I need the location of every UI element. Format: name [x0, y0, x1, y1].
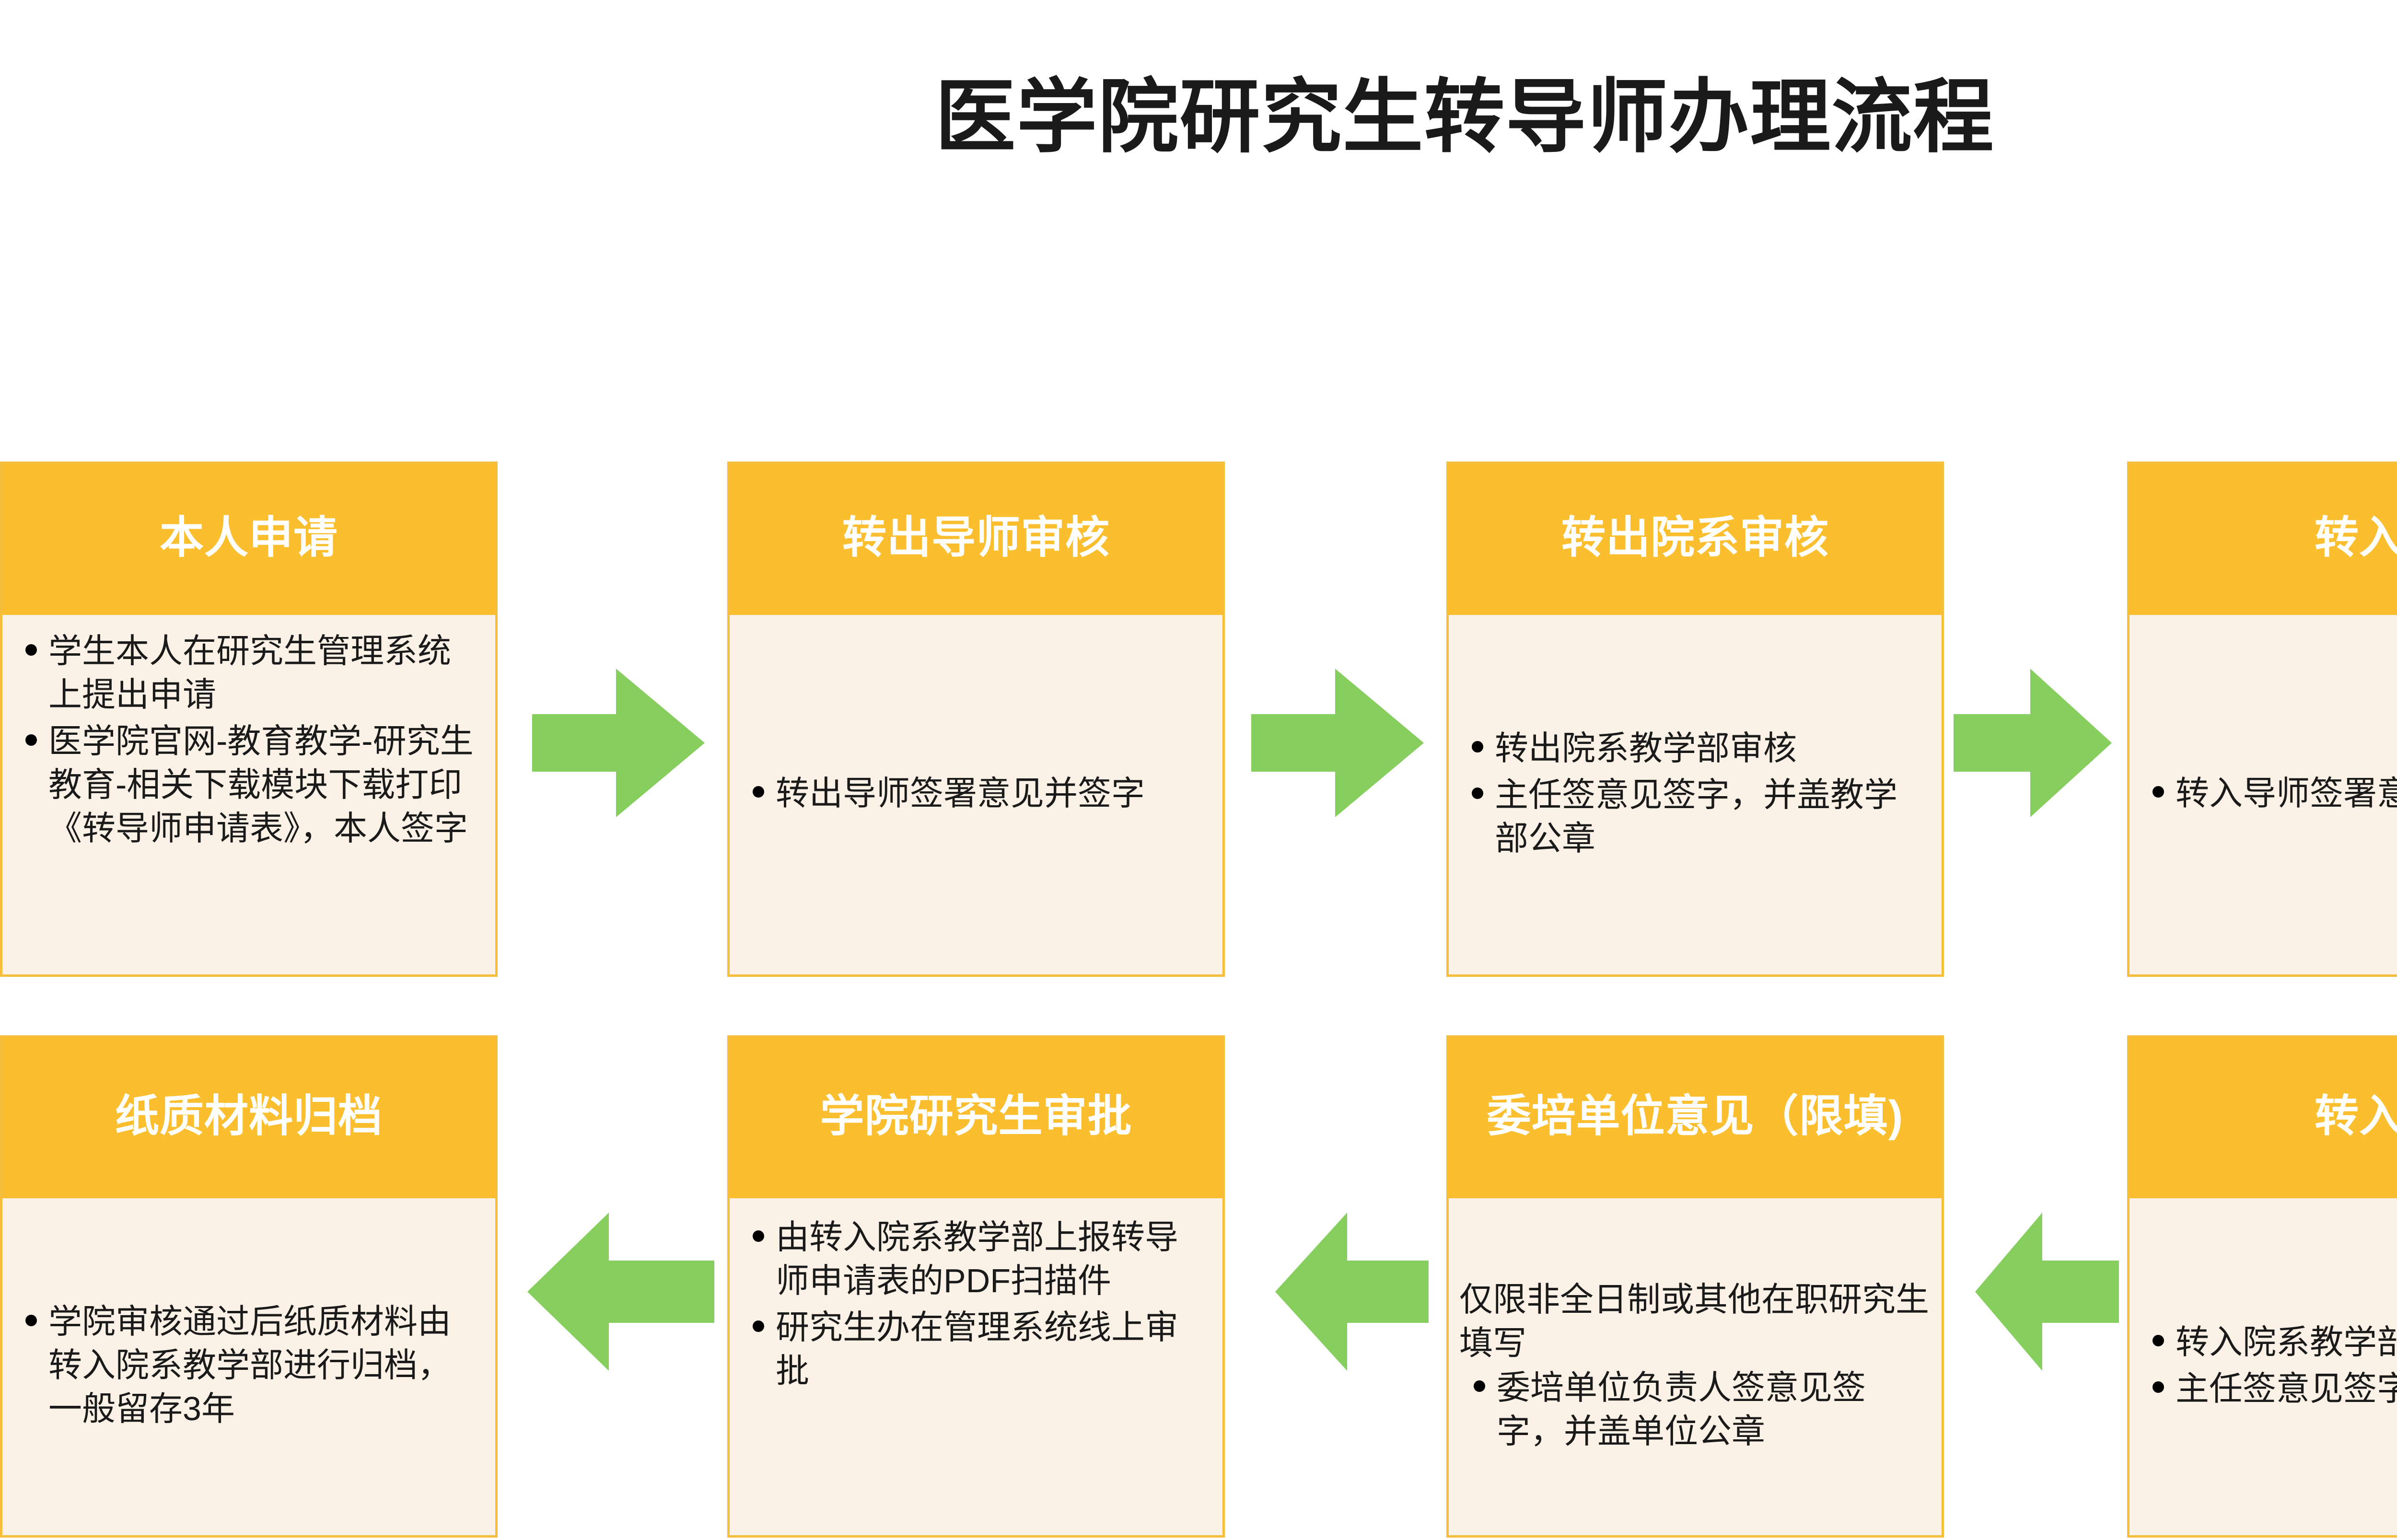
step-body: 转入导师签署意见并签字	[2129, 615, 2397, 974]
step-bullet-list: 转出导师签署意见并签字	[746, 772, 1206, 818]
step-body: 仅限非全日制或其他在职研究生填写 委培单位负责人签意见签字，并盖单位公章	[1449, 1198, 1942, 1535]
arrow-left-icon	[1275, 1213, 1429, 1371]
step-body: 学生本人在研究生管理系统上提出申请 医学院官网-教育教学-研究生教育-相关下载模…	[2, 615, 495, 974]
step-header: 转入院系审核	[2127, 1035, 2397, 1198]
step-bullet-list: 转出院系教学部审核 主任签意见签字，并盖教学部公章	[1465, 727, 1925, 863]
step-body: 转入院系教学部审核 主任签意见签字，并盖教学部公章	[2129, 1198, 2397, 1535]
page-title: 医学院研究生转导师办理流程	[0, 77, 2397, 157]
list-item: 转入导师签署意见并签字	[2146, 772, 2397, 815]
list-item: 主任签意见签字，并盖教学部公章	[1465, 773, 1925, 860]
list-item: 转出院系教学部审核	[1465, 727, 1925, 770]
step-box-zhuan-ru-dao-shi-shen-he: 转入导师审核 转入导师签署意见并签字	[2127, 462, 2397, 977]
list-item: 主任签意见签字，并盖教学部公章	[2146, 1367, 2397, 1411]
list-item: 学院审核通过后纸质材料由转入院系教学部进行归档，一般留存3年	[19, 1300, 479, 1431]
step-box-wei-pei-dan-wei-yi-jian: 委培单位意见（限填) 仅限非全日制或其他在职研究生填写 委培单位负责人签意见签字…	[1446, 1035, 1944, 1538]
list-item: 转出导师签署意见并签字	[746, 772, 1206, 815]
list-item: 学生本人在研究生管理系统上提出申请	[19, 629, 479, 717]
step-bullet-list: 由转入院系教学部上报转导师申请表的PDF扫描件 研究生办在管理系统线上审批	[746, 1216, 1206, 1396]
step-box-zhi-zhi-cai-liao-gui-dang: 纸质材料归档 学院审核通过后纸质材料由转入院系教学部进行归档，一般留存3年	[0, 1035, 498, 1538]
step-header: 转出院系审核	[1446, 462, 1944, 615]
step-bullet-list: 学院审核通过后纸质材料由转入院系教学部进行归档，一般留存3年	[19, 1300, 479, 1434]
list-item: 医学院官网-教育教学-研究生教育-相关下载模块下载打印《转导师申请表》，本人签字	[19, 719, 479, 850]
list-item: 委培单位负责人签意见签字，并盖单位公章	[1459, 1366, 1931, 1453]
step-header: 转出导师审核	[727, 462, 1225, 615]
step-box-xue-yuan-yan-jiu-sheng-shen-pi: 学院研究生审批 由转入院系教学部上报转导师申请表的PDF扫描件 研究生办在管理系…	[727, 1035, 1225, 1538]
step-body: 由转入院系教学部上报转导师申请表的PDF扫描件 研究生办在管理系统线上审批	[730, 1198, 1222, 1535]
step-box-zhuan-ru-yuan-xi-shen-he: 转入院系审核 转入院系教学部审核 主任签意见签字，并盖教学部公章	[2127, 1035, 2397, 1538]
arrow-right-icon	[1954, 669, 2112, 817]
list-item: 由转入院系教学部上报转导师申请表的PDF扫描件	[746, 1216, 1206, 1303]
step-body: 转出导师签署意见并签字	[730, 615, 1222, 974]
arrow-left-icon	[1975, 1213, 2119, 1371]
arrow-right-icon	[1251, 669, 1424, 817]
step-body: 学院审核通过后纸质材料由转入院系教学部进行归档，一般留存3年	[2, 1198, 495, 1535]
step-box-zhuan-chu-yuan-xi-shen-he: 转出院系审核 转出院系教学部审核 主任签意见签字，并盖教学部公章	[1446, 462, 1944, 977]
step-body: 转出院系教学部审核 主任签意见签字，并盖教学部公章	[1449, 615, 1942, 974]
arrow-left-icon	[527, 1213, 714, 1371]
list-item: 转入院系教学部审核	[2146, 1320, 2397, 1364]
step-bullet-list: 转入院系教学部审核 主任签意见签字，并盖教学部公章	[2146, 1320, 2397, 1413]
step-intro-text: 仅限非全日制或其他在职研究生填写	[1459, 1278, 1931, 1365]
step-header: 转入导师审核	[2127, 462, 2397, 615]
step-box-zhuan-chu-dao-shi-shen-he: 转出导师审核 转出导师签署意见并签字	[727, 462, 1225, 977]
step-header: 本人申请	[0, 462, 498, 615]
list-item: 研究生办在管理系统线上审批	[746, 1306, 1206, 1393]
step-bullet-list: 转入导师签署意见并签字	[2146, 772, 2397, 818]
step-header: 委培单位意见（限填)	[1446, 1035, 1944, 1198]
step-header: 学院研究生审批	[727, 1035, 1225, 1198]
step-bullet-list: 学生本人在研究生管理系统上提出申请 医学院官网-教育教学-研究生教育-相关下载模…	[19, 629, 479, 853]
step-bullet-list: 委培单位负责人签意见签字，并盖单位公章	[1459, 1366, 1931, 1456]
step-box-ben-ren-shen-qing: 本人申请 学生本人在研究生管理系统上提出申请 医学院官网-教育教学-研究生教育-…	[0, 462, 498, 977]
arrow-right-icon	[532, 669, 705, 817]
step-header: 纸质材料归档	[0, 1035, 498, 1198]
